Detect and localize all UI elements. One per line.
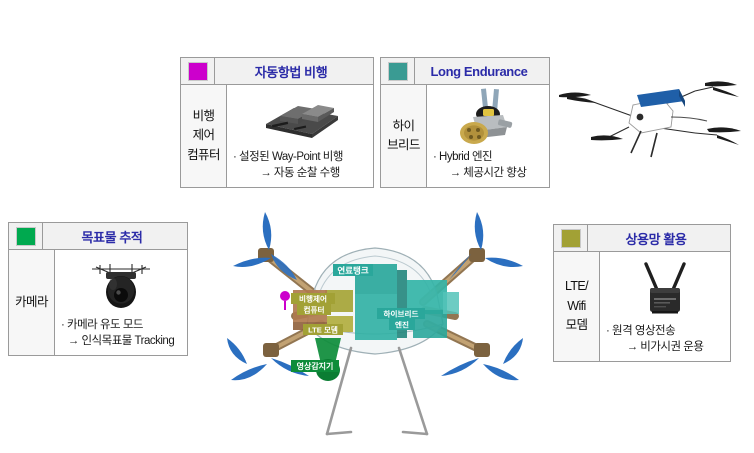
- lte-wifi-modem-photo: [604, 255, 726, 323]
- card-left-line-1: 비행: [193, 107, 215, 126]
- teal-swatch: [388, 62, 408, 81]
- card-title: 자동항법 비행: [215, 62, 373, 81]
- card-right-content: · 설정된 Way-Point 비행 → 자동 순찰 수행: [227, 85, 373, 187]
- card-left-label: 비행 제어 컴퓨터: [181, 85, 227, 187]
- card-description-line-2: → 인식목표물 Tracking: [68, 333, 174, 350]
- flight-control-computer-photo: [231, 88, 369, 149]
- svg-text:LTE 모뎀: LTE 모뎀: [308, 325, 338, 335]
- hexacopter-cutaway-diagram: 연료탱크 비행제어 컴퓨터 LTE 모뎀 하이브리드 엔진 영상감지기: [175, 198, 575, 448]
- card-right-content: · 카메라 유도 모드 → 인식목표물 Tracking: [55, 250, 187, 355]
- card-header: 자동항법 비행: [181, 58, 373, 85]
- svg-text:컴퓨터: 컴퓨터: [304, 305, 325, 315]
- feature-card-target-tracking[interactable]: 목표물 추적 카메라: [8, 222, 188, 356]
- card-left-line-3: 컴퓨터: [187, 146, 220, 165]
- card-body: LTE/ Wifi 모뎀: [554, 252, 730, 361]
- quadcopter-drone-photo: [545, 55, 750, 175]
- card-right-content: · Hybrid 엔진 → 체공시간 향상: [427, 85, 549, 187]
- svg-text:연료탱크: 연료탱크: [337, 266, 368, 276]
- feature-card-long-endurance[interactable]: Long Endurance 하이 브리드: [380, 57, 550, 188]
- card-title: Long Endurance: [415, 64, 549, 79]
- diagram-canvas: 자동항법 비행 비행 제어 컴퓨터: [0, 0, 754, 448]
- card-description-line-2: → 체공시간 향상: [450, 165, 527, 182]
- card-left-line-1: 카메라: [15, 293, 48, 312]
- feature-card-auto-navigation[interactable]: 자동항법 비행 비행 제어 컴퓨터: [180, 57, 374, 188]
- svg-text:하이브리드: 하이브리드: [384, 309, 419, 319]
- magenta-swatch: [188, 62, 208, 81]
- card-description-line-1: · Hybrid 엔진: [431, 149, 492, 166]
- card-description-line-1: · 원격 영상전송: [604, 323, 675, 340]
- gimbal-camera-photo: [59, 253, 183, 317]
- card-left-label: 하이 브리드: [381, 85, 427, 187]
- card-body: 비행 제어 컴퓨터: [181, 85, 373, 187]
- feature-card-commercial-network[interactable]: 상용망 활용 LTE/ Wifi 모뎀: [553, 224, 731, 362]
- card-left-line-2: 제어: [193, 126, 215, 145]
- card-header: 목표물 추적: [9, 223, 187, 250]
- hybrid-engine-photo: [431, 87, 545, 149]
- svg-text:영상감지기: 영상감지기: [297, 361, 334, 371]
- card-description-line-1: · 설정된 Way-Point 비행: [231, 149, 343, 166]
- card-body: 하이 브리드: [381, 85, 549, 187]
- svg-text:엔진: 엔진: [395, 320, 409, 330]
- svg-text:비행제어: 비행제어: [299, 294, 327, 304]
- card-left-label: 카메라: [9, 250, 55, 355]
- card-description-line-2: → 자동 순찰 수행: [260, 165, 340, 182]
- card-title: 목표물 추적: [43, 227, 187, 246]
- card-header: 상용망 활용: [554, 225, 730, 252]
- card-description-line-1: · 카메라 유도 모드: [59, 317, 143, 334]
- card-header: Long Endurance: [381, 58, 549, 85]
- card-right-content: · 원격 영상전송 → 비가시권 운용: [600, 252, 730, 361]
- card-body: 카메라: [9, 250, 187, 355]
- card-left-line-1: 하이: [393, 117, 415, 136]
- green-swatch: [16, 227, 36, 246]
- card-left-line-2: 브리드: [387, 136, 420, 155]
- card-title: 상용망 활용: [588, 229, 730, 248]
- card-description-line-2: → 비가시권 운용: [627, 339, 704, 356]
